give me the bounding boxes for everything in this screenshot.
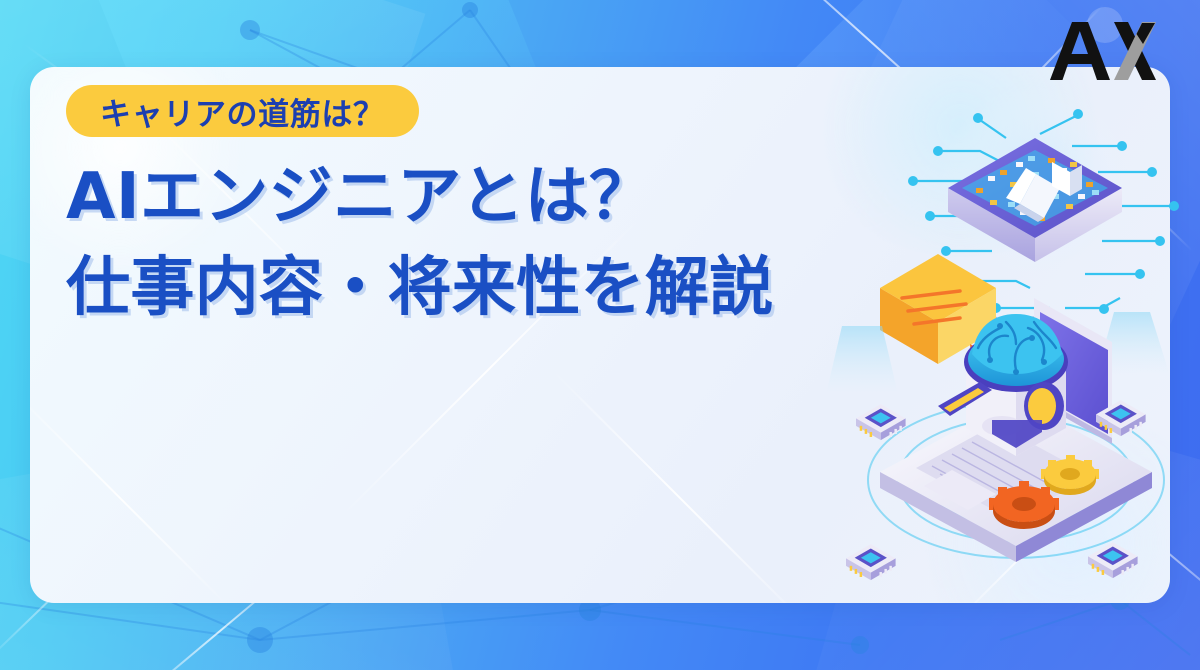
robot-eye (1028, 388, 1056, 424)
ai-illustration (820, 76, 1200, 596)
card-streak-2 (552, 370, 808, 603)
page-title-line1: AIエンジニアとは？ (66, 163, 774, 232)
banner-text-block: キャリアの道筋は？ AIエンジニアとは？ 仕事内容・将来性を解説 (66, 85, 774, 323)
page-title-line2: 仕事内容・将来性を解説 (66, 254, 774, 323)
eyebrow-badge: キャリアの道筋は？ (66, 85, 419, 137)
ax-logo[interactable] (1042, 14, 1162, 88)
card-streak-3 (30, 391, 227, 603)
banner-canvas: キャリアの道筋は？ AIエンジニアとは？ 仕事内容・将来性を解説 (0, 0, 1200, 670)
